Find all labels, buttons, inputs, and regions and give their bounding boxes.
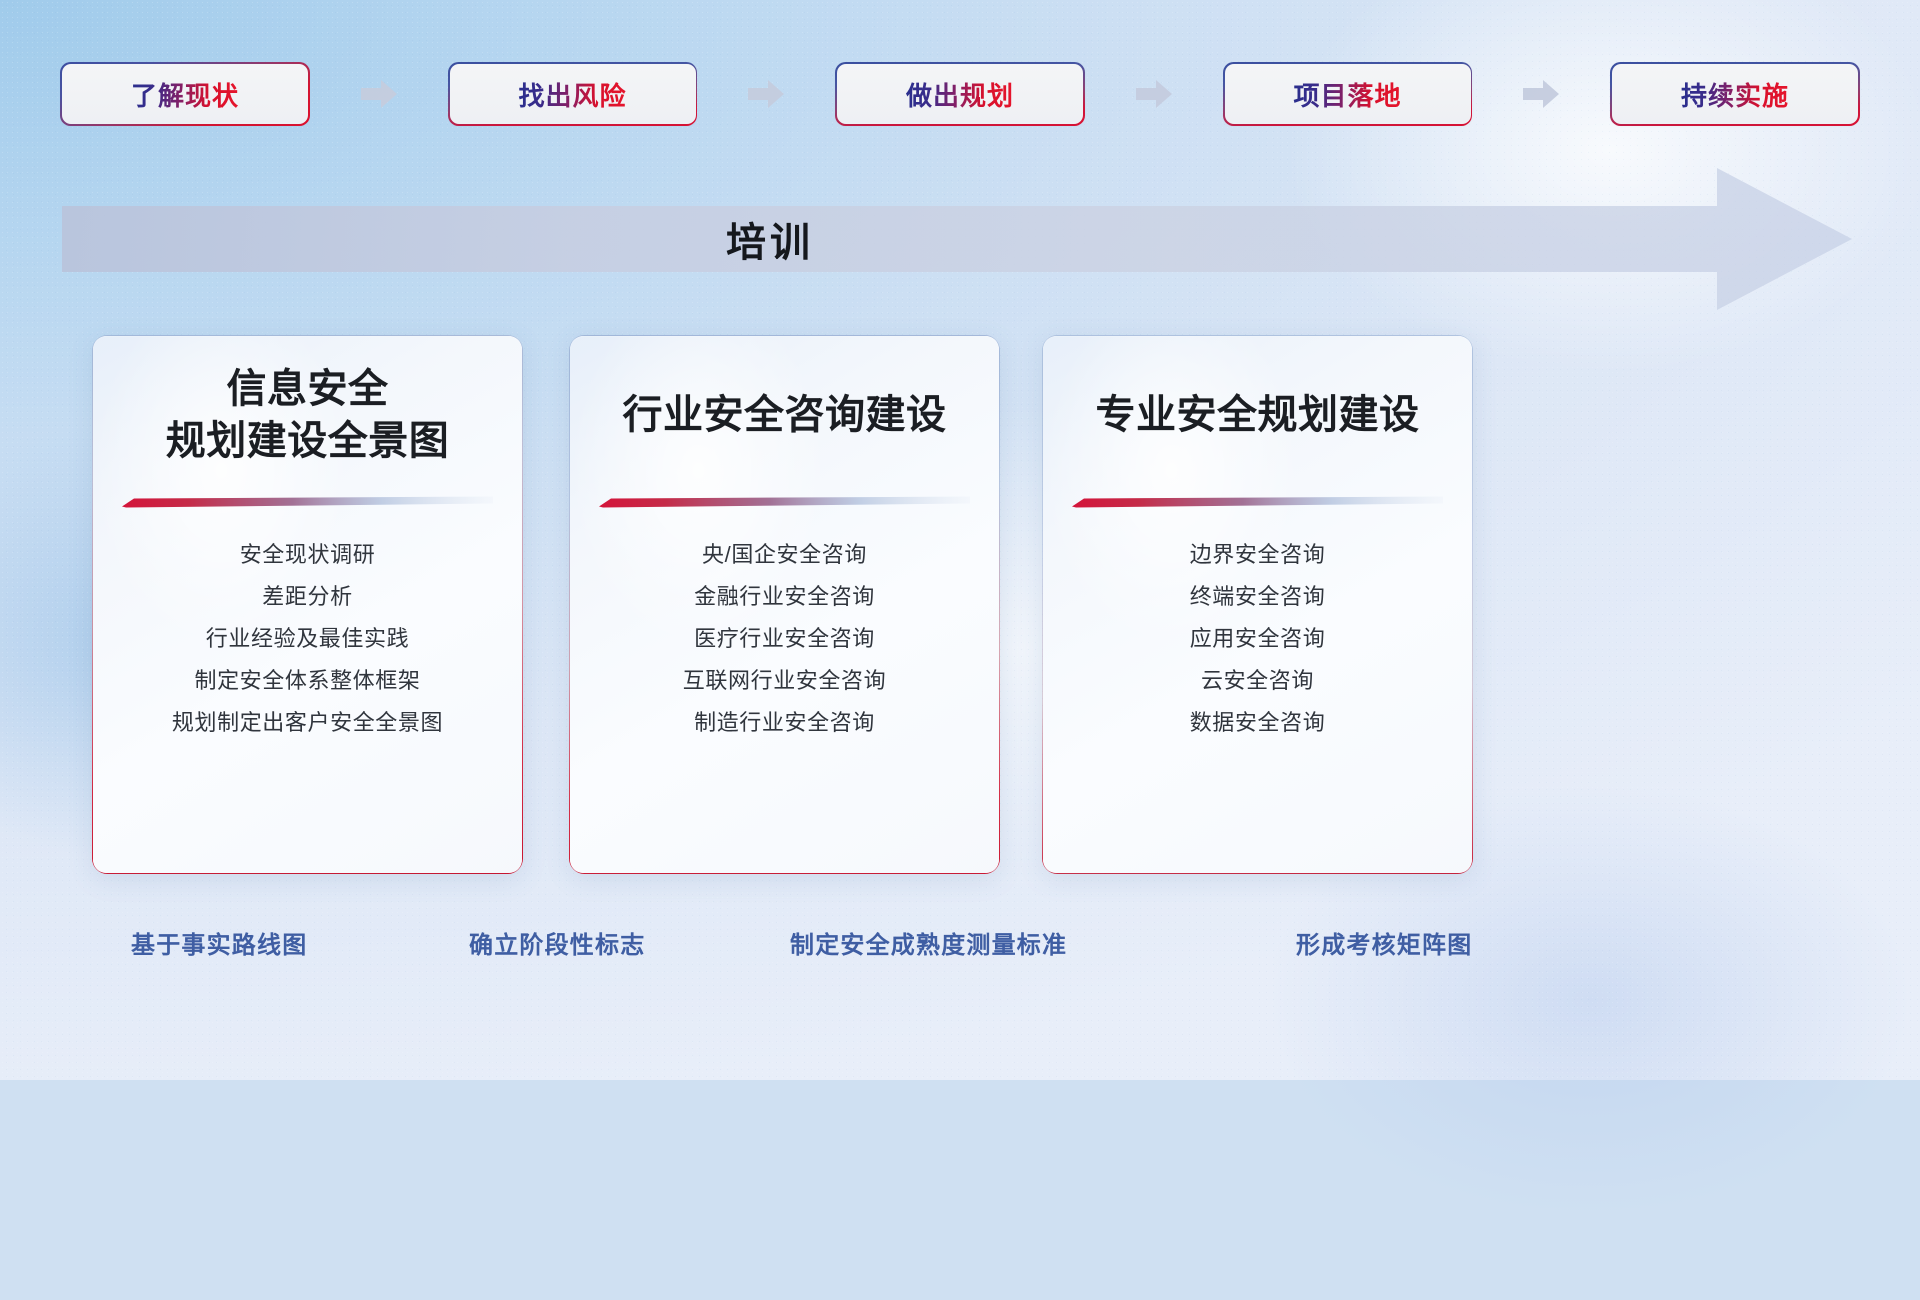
card-accent-rule — [122, 496, 493, 508]
card-title: 专业安全规划建设 — [1096, 389, 1420, 441]
list-item: 云安全咨询 — [1043, 670, 1472, 692]
card-item-list: 央/国企安全咨询 金融行业安全咨询 医疗行业安全咨询 互联网行业安全咨询 制造行… — [570, 544, 999, 734]
card-title: 信息安全 规划建设全景图 — [166, 363, 450, 467]
card-title: 行业安全咨询建设 — [623, 389, 947, 441]
card-title-wrap: 信息安全 规划建设全景图 — [93, 336, 522, 494]
long-right-arrow-icon — [62, 168, 1852, 310]
list-item: 央/国企安全咨询 — [570, 544, 999, 566]
step-separator-3 — [1083, 79, 1225, 109]
list-item: 数据安全咨询 — [1043, 712, 1472, 734]
card-accent-rule — [599, 496, 970, 508]
step-separator-2 — [696, 79, 838, 109]
step-label-3: 做出规划 — [906, 76, 1014, 113]
list-item: 金融行业安全咨询 — [570, 586, 999, 608]
list-item: 差距分析 — [93, 586, 522, 608]
list-item: 互联网行业安全咨询 — [570, 670, 999, 692]
list-item: 安全现状调研 — [93, 544, 522, 566]
right-arrow-icon — [1523, 79, 1559, 109]
card-title-wrap: 专业安全规划建设 — [1043, 336, 1472, 494]
step-label-5: 持续实施 — [1681, 76, 1789, 113]
card-title-wrap: 行业安全咨询建设 — [570, 336, 999, 494]
list-item: 行业经验及最佳实践 — [93, 628, 522, 650]
footnote-3: 制定安全成熟度测量标准 — [790, 925, 1067, 960]
right-arrow-icon — [1136, 79, 1172, 109]
list-item: 规划制定出客户安全全景图 — [93, 712, 522, 734]
list-item: 应用安全咨询 — [1043, 628, 1472, 650]
card-item-list: 边界安全咨询 终端安全咨询 应用安全咨询 云安全咨询 数据安全咨询 — [1043, 544, 1472, 734]
step-box-4[interactable]: 项目落地 — [1225, 64, 1471, 124]
right-arrow-icon — [748, 79, 784, 109]
step-box-3[interactable]: 做出规划 — [837, 64, 1083, 124]
card-row: 信息安全 规划建设全景图 — [0, 336, 1920, 878]
card-accent-rule — [1072, 496, 1443, 508]
step-box-5[interactable]: 持续实施 — [1612, 64, 1858, 124]
card-professional-security-planning[interactable]: 专业安全规划建设 边界安 — [1043, 336, 1472, 873]
card-industry-security-consulting[interactable]: 行业安全咨询建设 央/国 — [570, 336, 999, 873]
step-separator-1 — [308, 79, 450, 109]
list-item: 终端安全咨询 — [1043, 586, 1472, 608]
card-title-line-2: 规划建设全景图 — [166, 415, 450, 467]
card-item-list: 安全现状调研 差距分析 行业经验及最佳实践 制定安全体系整体框架 规划制定出客户… — [93, 544, 522, 734]
list-item: 制造行业安全咨询 — [570, 712, 999, 734]
training-arrow-band — [62, 168, 1852, 310]
footnote-2: 确立阶段性标志 — [469, 925, 645, 960]
footnote-1: 基于事实路线图 — [131, 925, 307, 960]
list-item: 边界安全咨询 — [1043, 544, 1472, 566]
right-arrow-icon — [361, 79, 397, 109]
step-box-1[interactable]: 了解现状 — [62, 64, 308, 124]
step-label-1: 了解现状 — [131, 76, 239, 113]
list-item: 制定安全体系整体框架 — [93, 670, 522, 692]
footnote-4: 形成考核矩阵图 — [1296, 925, 1472, 960]
card-body: 专业安全规划建设 边界安 — [1043, 336, 1472, 873]
step-label-4: 项目落地 — [1293, 76, 1401, 113]
step-label-2: 找出风险 — [518, 76, 626, 113]
card-body: 信息安全 规划建设全景图 — [93, 336, 522, 873]
card-information-security-blueprint[interactable]: 信息安全 规划建设全景图 — [93, 336, 522, 873]
step-box-2[interactable]: 找出风险 — [450, 64, 696, 124]
footnote-row: 基于事实路线图 确立阶段性标志 制定安全成熟度测量标准 形成考核矩阵图 — [0, 925, 1920, 985]
card-title-line-1: 信息安全 — [166, 363, 450, 415]
step-separator-4 — [1471, 79, 1613, 109]
list-item: 医疗行业安全咨询 — [570, 628, 999, 650]
card-body: 行业安全咨询建设 央/国 — [570, 336, 999, 873]
process-step-row: 了解现状 找出风险 做出规划 项目落地 — [62, 63, 1858, 125]
